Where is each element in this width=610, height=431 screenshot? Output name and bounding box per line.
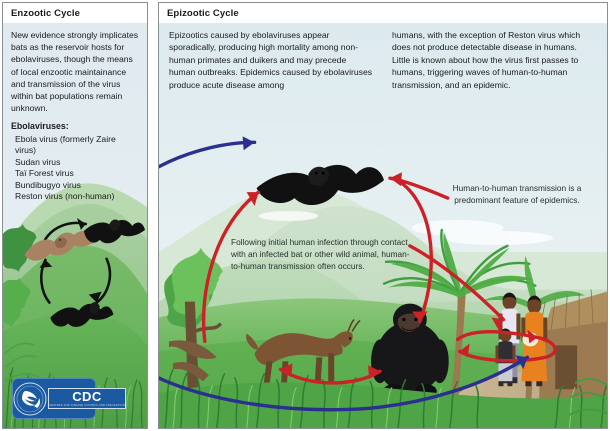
cdc-wordmark: CDC CENTERS FOR DISEASE CONTROL AND PREV… <box>48 388 126 409</box>
list-item: Taï Forest virus <box>15 168 139 179</box>
epizootic-intro-text-2: humans, with the exception of Reston vir… <box>392 29 597 91</box>
cdc-logo: CDC CENTERS FOR DISEASE CONTROL AND PREV… <box>12 378 96 419</box>
ebolaviruses-heading: Ebolaviruses: <box>11 120 139 132</box>
epizootic-intro-col-2: humans, with the exception of Reston vir… <box>392 29 597 91</box>
enzootic-paragraph: New evidence strongly implicates bats as… <box>11 29 139 114</box>
enzootic-panel-body: New evidence strongly implicates bats as… <box>3 23 147 206</box>
figure-canvas: Enzootic Cycle New evidence strongly imp… <box>0 0 610 431</box>
cdc-text: CDC <box>49 390 125 404</box>
list-item: Bundibugyo virus <box>15 180 139 191</box>
callout-human-to-human: Human-to-human transmission is a predomi… <box>437 183 597 207</box>
epizootic-intro-col-1: Epizootics caused by ebolaviruses appear… <box>169 29 374 91</box>
enzootic-cycle-panel: Enzootic Cycle New evidence strongly imp… <box>2 2 148 429</box>
epizootic-intro-text-1: Epizootics caused by ebolaviruses appear… <box>169 29 374 91</box>
cdc-subtext: CENTERS FOR DISEASE CONTROL AND PREVENTI… <box>49 404 125 407</box>
list-item: Ebola virus (formerly Zaire virus) <box>15 134 139 157</box>
epizootic-panel-title: Epizootic Cycle <box>159 3 607 23</box>
callout-transmission: Following initial human infection throug… <box>231 237 417 272</box>
list-item: Reston virus (non-human) <box>15 191 139 202</box>
epizootic-cycle-panel: Epizootic Cycle Epizootics caused by ebo… <box>158 2 608 429</box>
list-item: Sudan virus <box>15 157 139 168</box>
enzootic-panel-title: Enzootic Cycle <box>3 3 147 23</box>
hhs-seal-icon <box>12 381 48 417</box>
epizootic-intro: Epizootics caused by ebolaviruses appear… <box>159 23 607 97</box>
ebolavirus-list: Ebola virus (formerly Zaire virus) Sudan… <box>11 134 139 203</box>
